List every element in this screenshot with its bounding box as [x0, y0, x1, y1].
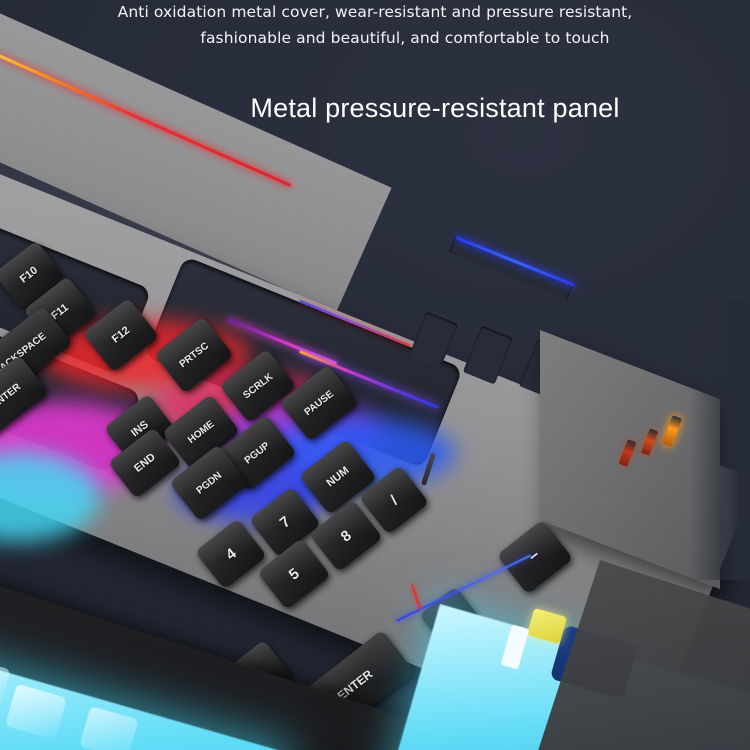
product-image: F10F11F12PRTSCBACKSPACESCRLKPAUSEENTERIN…	[0, 0, 750, 750]
caption-line-1: Anti oxidation metal cover, wear-resista…	[0, 3, 750, 21]
keycap-label: PGDN	[194, 470, 224, 496]
keycap-label: PGUP	[242, 440, 271, 466]
keycap-label: 7	[276, 513, 293, 532]
keycap-label: 4	[222, 545, 239, 564]
keycap-label: END	[132, 451, 158, 475]
keycap-label: 5	[285, 565, 302, 584]
keycap-label: 8	[337, 527, 354, 546]
headline: Metal pressure-resistant panel	[0, 93, 750, 124]
keycap-label: ENTER	[0, 381, 23, 411]
keycap[interactable]: PAUSE	[279, 364, 359, 442]
keycap-label: SCRLK	[241, 371, 275, 401]
keycap-label: PRTSC	[177, 340, 210, 370]
keycap-label: /	[387, 492, 401, 508]
keycap-label: F10	[18, 264, 40, 285]
keycap[interactable]: −	[497, 519, 573, 594]
keycap[interactable]: SCRLK	[220, 349, 297, 424]
keycap[interactable]: PRTSC	[154, 316, 234, 394]
keycap-label: NUM	[324, 465, 351, 490]
keycap-label: PAUSE	[302, 388, 335, 417]
caption-line-2: fashionable and beautiful, and comfortab…	[0, 29, 750, 47]
keycap-label: F12	[110, 324, 132, 345]
keycap-label: HOME	[186, 418, 216, 445]
keycap[interactable]: F12	[83, 297, 159, 372]
